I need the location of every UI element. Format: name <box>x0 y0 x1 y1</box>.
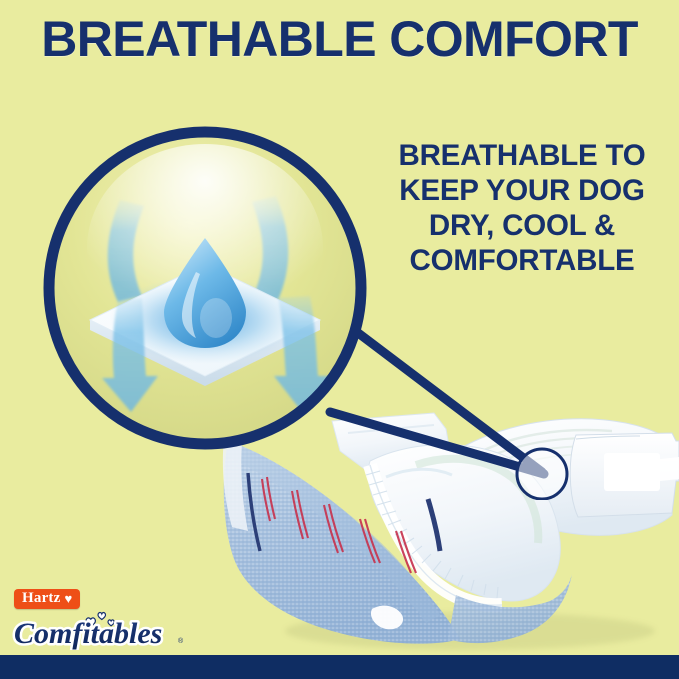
magnifier-callout <box>24 140 444 450</box>
registered-mark: ® <box>178 637 184 645</box>
magnifier-illustration <box>0 0 679 500</box>
comfitables-wordmark: Comfitables Comfitables ® <box>12 610 192 650</box>
hartz-wordmark: Hartz <box>22 591 60 606</box>
poster-canvas: BREATHABLE COMFORT BREATHABLE TO KEEP YO… <box>0 0 679 679</box>
brand-logo-lockup: Hartz ♥ Comfitables Comfitables ® <box>12 589 192 651</box>
hartz-badge: Hartz ♥ <box>14 589 80 609</box>
heart-icon: ♥ <box>64 592 72 605</box>
magnifier-target-circle <box>517 449 567 499</box>
comfitables-text: Comfitables <box>14 617 162 650</box>
bottom-bar <box>0 655 679 679</box>
